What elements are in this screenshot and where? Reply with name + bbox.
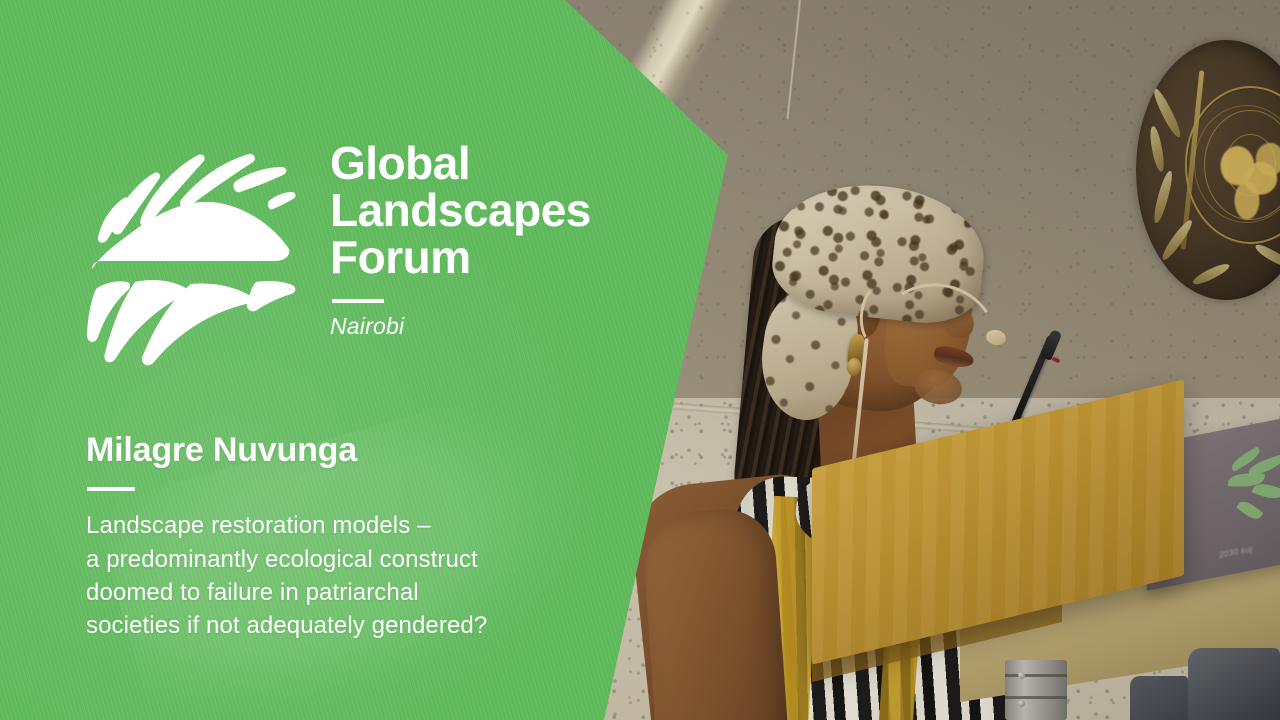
speaker-name-divider: [87, 487, 135, 491]
brand-wordmark: Global Landscapes Forum Nairobi: [330, 134, 591, 340]
podium-column: [1005, 660, 1067, 720]
podium-bolt: [1018, 672, 1025, 679]
brand-location: Nairobi: [330, 313, 591, 340]
un-emblem-map: [1217, 142, 1280, 221]
foreground-equipment: [1130, 676, 1188, 720]
speaker-name: Milagre Nuvunga: [86, 432, 586, 469]
brand-logo-lockup: Global Landscapes Forum Nairobi: [86, 134, 591, 366]
foreground-equipment: [1188, 648, 1280, 720]
podium-sign-text: 2030 kuj: [1219, 544, 1253, 560]
brand-line-2: Landscapes: [330, 187, 591, 234]
podium-bolt: [1018, 700, 1025, 707]
brand-divider: [332, 299, 384, 303]
talk-title-line: doomed to failure in patriarchal: [86, 576, 586, 609]
talk-title: Landscape restoration models – a predomi…: [86, 509, 586, 641]
brand-line-1: Global: [330, 140, 591, 187]
video-title-card: 2030 kuj: [0, 0, 1280, 720]
brand-line-3: Forum: [330, 234, 591, 281]
leaf-graphic-icon: [1225, 440, 1280, 533]
speaker-info-block: Milagre Nuvunga Landscape restoration mo…: [86, 432, 586, 642]
talk-title-line: societies if not adequately gendered?: [86, 609, 586, 642]
glf-leaf-logo-icon: [86, 134, 308, 366]
talk-title-line: Landscape restoration models –: [86, 509, 586, 542]
talk-title-line: a predominantly ecological construct: [86, 543, 586, 576]
